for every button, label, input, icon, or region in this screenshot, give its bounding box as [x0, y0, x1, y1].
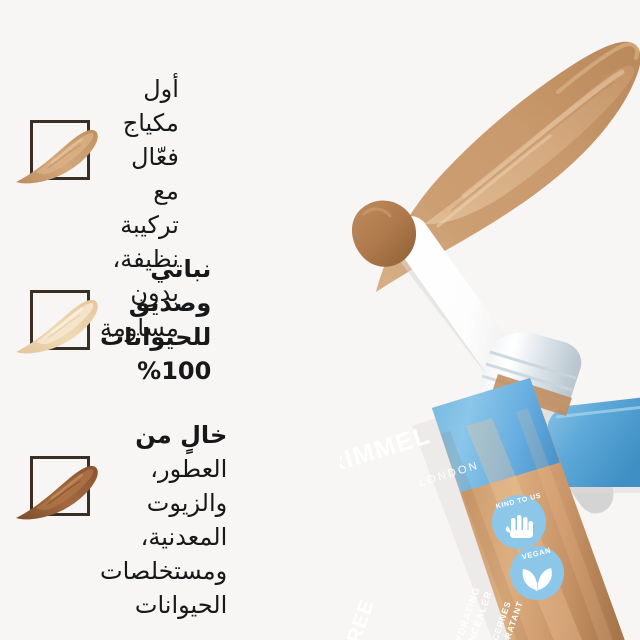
feature-text-free-from-rest: العطور، والزيوت المعدنية، ومستخلصات الحي… [100, 455, 227, 619]
concealer-swatch-deep-icon [18, 446, 100, 528]
feature-text-free-from: خالٍ من العطور، والزيوت المعدنية، ومستخل… [100, 418, 241, 622]
feature-text-free-from-bold: خالٍ من [135, 421, 227, 449]
feature-item-vegan: نباتي وصديق للحيوانات 100% [18, 252, 115, 388]
swatch-frame [30, 456, 90, 516]
swatch-frame [30, 120, 90, 180]
product-artwork: RIMMEL LONDON KIND & FREE KIND TO US [310, 0, 640, 640]
vegan-badge: VEGAN [510, 546, 564, 600]
swatch-frame [30, 290, 90, 350]
range-name: KIND & FREE [340, 596, 379, 640]
product-infographic: أول مكياج فعّال مع تركيبة نظيفة، بدون مس… [0, 0, 640, 640]
concealer-swatch-light-icon [18, 280, 100, 362]
brand-name: RIMMEL [340, 421, 434, 479]
concealer-tube: RIMMEL LONDON KIND & FREE KIND TO US [340, 330, 640, 640]
feature-item-free-from: خالٍ من العطور، والزيوت المعدنية، ومستخل… [18, 418, 125, 622]
concealer-swatch-medium-icon [18, 110, 100, 192]
feature-text-vegan: نباتي وصديق للحيوانات 100% [100, 252, 225, 388]
